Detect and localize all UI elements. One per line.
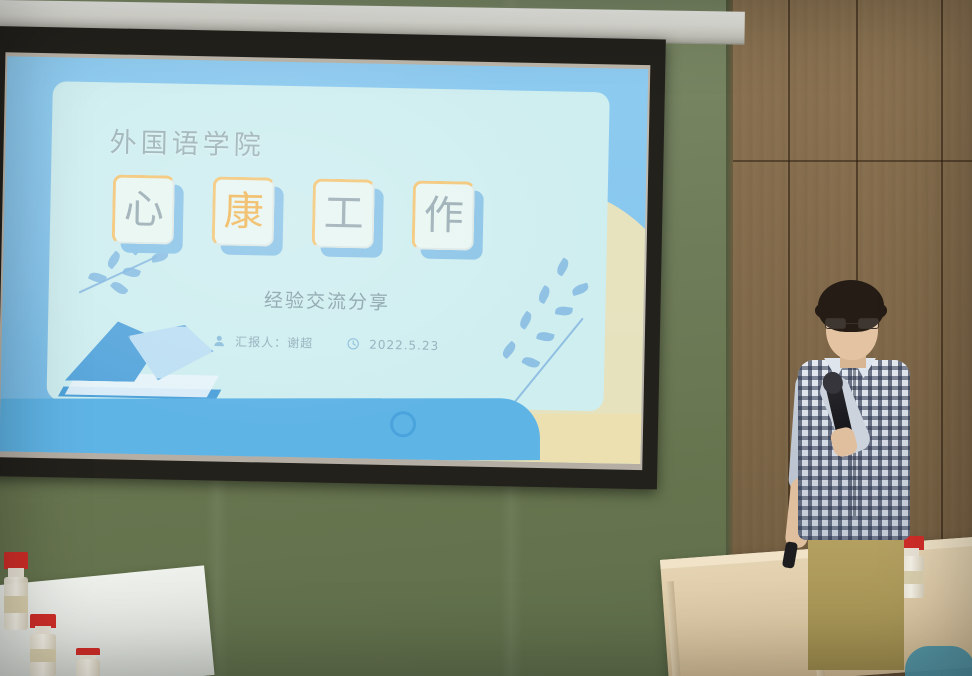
- character-tile: 心: [112, 174, 178, 247]
- tile-face: 心: [112, 174, 175, 244]
- school-name: 外国语学院: [109, 120, 265, 162]
- tile-character: 作: [423, 196, 464, 237]
- person-icon: [213, 334, 226, 347]
- glasses-icon: [825, 318, 880, 329]
- character-tile: 作: [412, 180, 478, 253]
- character-tile: 康: [212, 176, 278, 249]
- title-character-tiles: 心 康 工: [112, 174, 478, 253]
- presentation-date: 2022.5.23: [369, 337, 439, 352]
- presentation-clicker: [782, 541, 798, 569]
- projector-screen-frame: 外国语学院 心 康: [0, 26, 666, 489]
- water-bottle: [4, 552, 28, 630]
- blue-wave-band: [0, 398, 540, 460]
- presenter-person: [770, 280, 930, 676]
- clock-icon: [347, 337, 360, 350]
- tile-face: 康: [212, 176, 275, 246]
- water-bottle: [30, 614, 56, 676]
- presentation-slide: 外国语学院 心 康: [0, 56, 648, 464]
- teal-chair: [905, 646, 972, 676]
- tile-character: 心: [123, 190, 164, 231]
- open-book-illustration: [65, 309, 217, 398]
- tile-character: 康: [223, 192, 264, 233]
- photo-scene: 外国语学院 心 康: [0, 0, 972, 676]
- leaf-branch-right: [478, 253, 601, 385]
- table-leg: [666, 581, 685, 676]
- khaki-pants: [808, 530, 904, 670]
- slide-panel-content: 外国语学院 心 康: [47, 81, 610, 411]
- slide-inner-panel: 外国语学院 心 康: [47, 81, 610, 411]
- tile-face: 工: [312, 178, 375, 248]
- tile-character: 工: [323, 194, 364, 235]
- water-bottle: [76, 648, 100, 676]
- tile-face: 作: [412, 180, 475, 250]
- character-tile: 工: [312, 178, 378, 251]
- presenter-label: 汇报人：谢超: [235, 333, 313, 352]
- wood-seam-horizontal: [726, 160, 972, 162]
